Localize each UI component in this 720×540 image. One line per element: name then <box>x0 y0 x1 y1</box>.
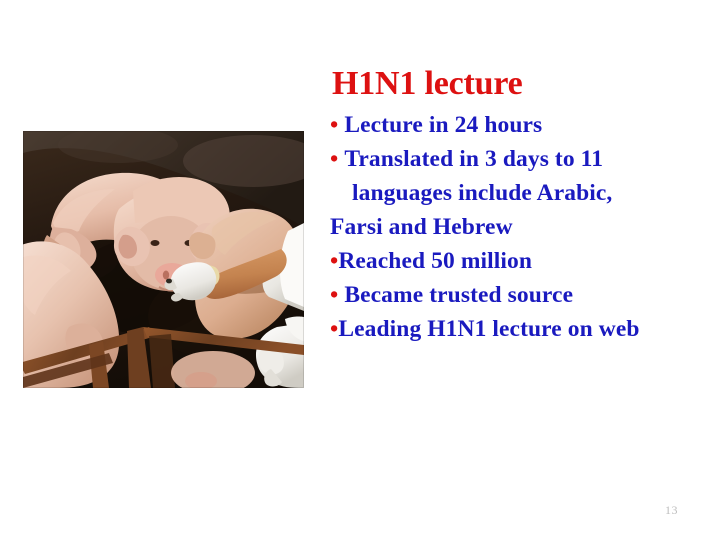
bullet-text: Translated in 3 days to 11 <box>338 142 603 176</box>
bullet-line-6: •Became trusted source <box>330 278 714 312</box>
bullet-marker: • <box>330 108 338 142</box>
page-title: H1N1 lecture <box>332 62 714 106</box>
slide-canvas: H1N1 lecture •Lecture in 24 hours •Trans… <box>0 0 720 540</box>
bullet-line-1: •Lecture in 24 hours <box>330 108 714 142</box>
bullet-line-4-continuation: Farsi and Hebrew <box>330 210 714 244</box>
bullet-marker: • <box>330 244 338 278</box>
bullet-line-7: •Leading H1N1 lecture on web <box>330 312 714 346</box>
bullet-text: Farsi and Hebrew <box>330 210 513 244</box>
photo-scene <box>23 131 304 388</box>
bullet-list: •Lecture in 24 hours •Translated in 3 da… <box>330 108 714 346</box>
bullet-text: Became trusted source <box>338 278 573 312</box>
photo-svg <box>23 131 304 388</box>
bullet-marker: • <box>330 312 338 346</box>
pig-farm-photo <box>23 131 304 388</box>
bullet-line-2: •Translated in 3 days to 11 <box>330 142 714 176</box>
bullet-text: Reached 50 million <box>338 244 532 278</box>
slide-text-block: H1N1 lecture •Lecture in 24 hours •Trans… <box>330 62 714 346</box>
bullet-marker: • <box>330 142 338 176</box>
slide-number: 13 <box>665 503 678 518</box>
bullet-marker: • <box>330 278 338 312</box>
bullet-text: languages include Arabic, <box>352 176 612 210</box>
bullet-text: Lecture in 24 hours <box>338 108 542 142</box>
bullet-text: Leading H1N1 lecture on web <box>338 312 639 346</box>
bullet-line-3-continuation: languages include Arabic, <box>330 176 714 210</box>
bullet-line-5: •Reached 50 million <box>330 244 714 278</box>
